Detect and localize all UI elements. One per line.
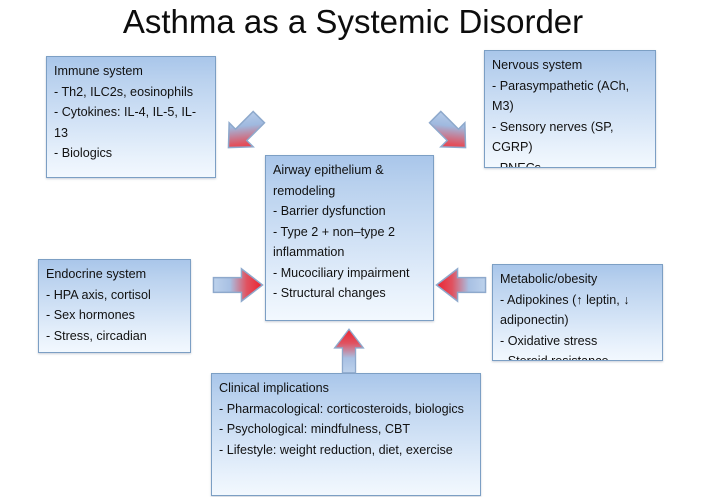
arrow-up-icon xyxy=(330,327,368,375)
box-airway-epithelium-remodeling-text: Airway epithelium & remodeling - Barrier… xyxy=(273,160,427,304)
box-metabolic-obesity-text: Metabolic/obesity - Adipokines (↑ leptin… xyxy=(500,269,656,361)
box-endocrine-system-text: Endocrine system - HPA axis, cortisol - … xyxy=(46,264,184,346)
box-clinical-implications[interactable]: Clinical implications - Pharmacological:… xyxy=(211,373,481,496)
box-nervous-system[interactable]: Nervous system - Parasympathetic (ACh, M… xyxy=(484,50,656,168)
box-clinical-implications-text: Clinical implications - Pharmacological:… xyxy=(219,378,474,460)
arrow-left-icon xyxy=(434,266,488,304)
arrow-down-left-icon xyxy=(425,107,475,157)
box-immune-system-text: Immune system - Th2, ILC2s, eosinophils … xyxy=(54,61,209,164)
page-title: Asthma as a Systemic Disorder xyxy=(0,2,706,42)
box-nervous-system-text: Nervous system - Parasympathetic (ACh, M… xyxy=(492,55,649,168)
box-endocrine-system[interactable]: Endocrine system - HPA axis, cortisol - … xyxy=(38,259,191,353)
arrow-right-icon xyxy=(211,266,265,304)
box-airway-epithelium-remodeling[interactable]: Airway epithelium & remodeling - Barrier… xyxy=(265,155,434,321)
box-immune-system[interactable]: Immune system - Th2, ILC2s, eosinophils … xyxy=(46,56,216,178)
box-metabolic-obesity[interactable]: Metabolic/obesity - Adipokines (↑ leptin… xyxy=(492,264,663,361)
arrow-down-right-icon xyxy=(219,107,269,157)
slide-canvas: Asthma as a Systemic Disorder Immune sys… xyxy=(0,0,706,497)
